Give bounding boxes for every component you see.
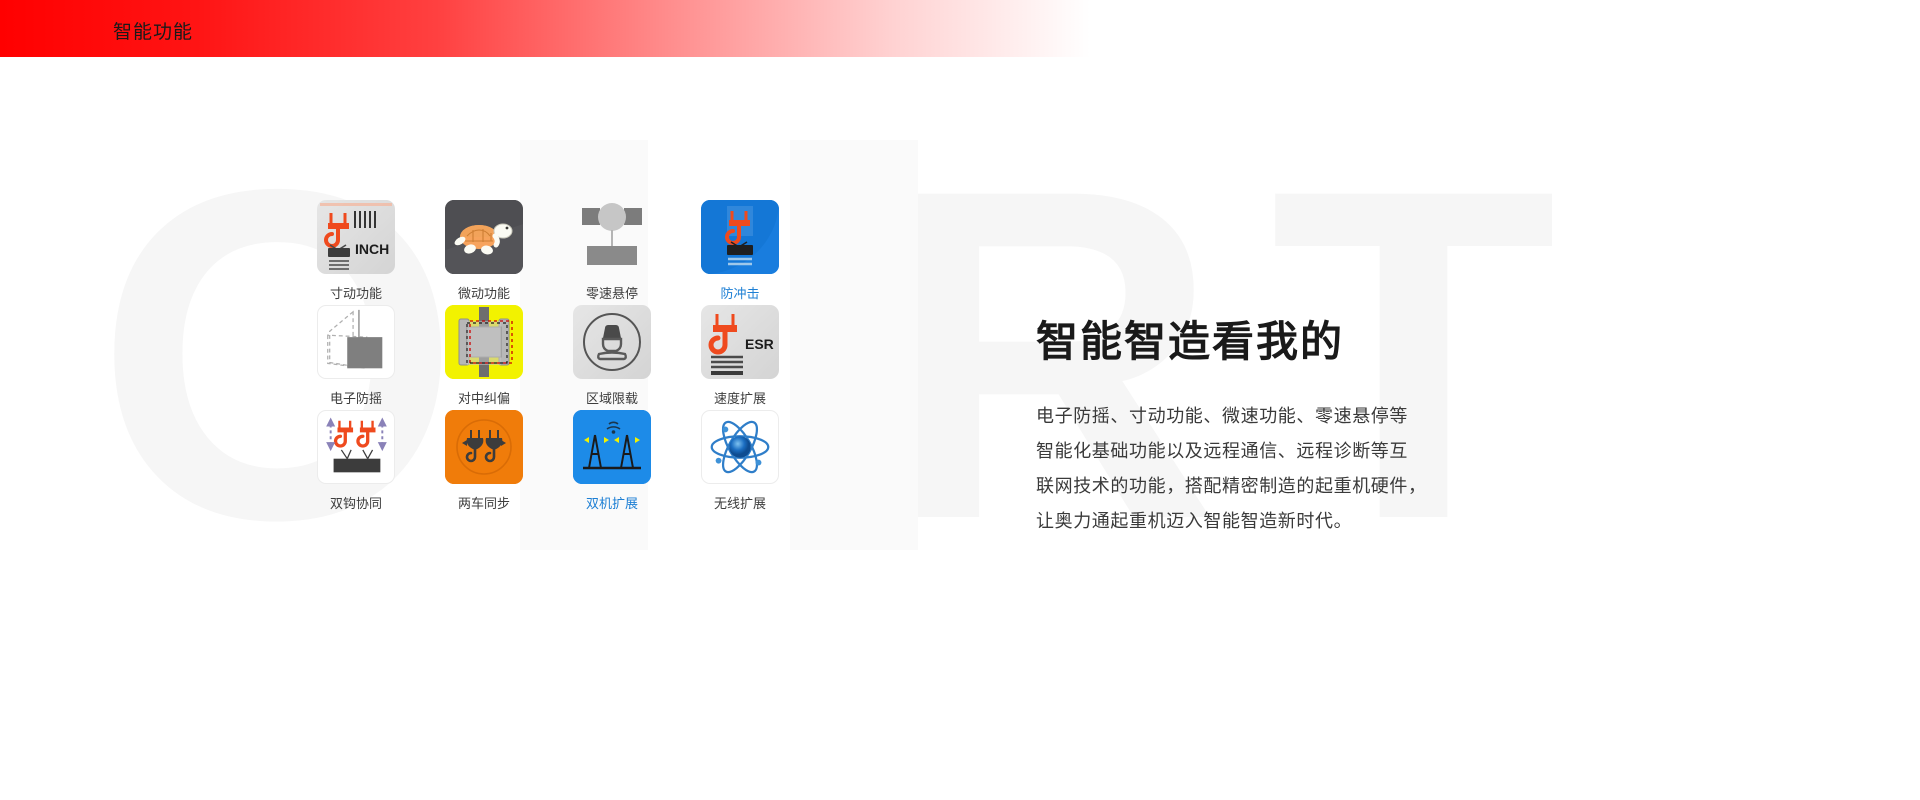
grid-item-label: 无线扩展 [714, 493, 766, 512]
esr-badge-text: ESR [745, 336, 774, 352]
content-heading: 智能智造看我的 [1036, 308, 1427, 369]
anti-shock-hook-icon [701, 200, 779, 274]
grid-item-label: 双钩协同 [330, 493, 382, 512]
grid-item-micro[interactable]: 微动功能 [420, 200, 548, 305]
zero-speed-hover-icon [573, 200, 651, 274]
atom-wireless-icon [701, 410, 779, 484]
dual-machine-wifi-icon [573, 410, 651, 484]
grid-item-label: 双机扩展 [586, 493, 638, 512]
inch-hook-icon: INCH [317, 200, 395, 274]
page-title: 智能功能 [113, 17, 193, 44]
content-block: 智能智造看我的 电子防摇、寸动功能、微速功能、零速悬停等 智能化基础功能以及远程… [1036, 308, 1427, 539]
paragraph-line: 让奥力通起重机迈入智能智造新时代。 [1036, 504, 1427, 539]
grid-item-label: 对中纠偏 [458, 388, 510, 407]
paragraph-line: 联网技术的功能，搭配精密制造的起重机硬件， [1036, 469, 1427, 504]
paragraph-line: 智能化基础功能以及远程通信、远程诊断等互 [1036, 434, 1427, 469]
dual-hook-sync-icon [317, 410, 395, 484]
grid-item-label: 零速悬停 [586, 283, 638, 302]
grid-item-anti-shock[interactable]: 防冲击 [676, 200, 804, 305]
grid-item-dual-machine[interactable]: 双机扩展 [548, 410, 676, 515]
zone-load-limit-icon [573, 305, 651, 379]
grid-item-label: 电子防摇 [330, 388, 382, 407]
grid-item-centering[interactable]: 对中纠偏 [420, 305, 548, 410]
grid-item-label: 速度扩展 [714, 388, 766, 407]
grid-item-speed-expand[interactable]: ESR 速度扩展 [676, 305, 804, 410]
background-band-right [790, 140, 918, 550]
feature-icon-grid: INCH 寸动功能 [292, 200, 804, 515]
content-paragraph: 电子防摇、寸动功能、微速功能、零速悬停等 智能化基础功能以及远程通信、远程诊断等… [1036, 399, 1427, 539]
inch-badge-text: INCH [355, 241, 389, 257]
grid-item-label: 寸动功能 [330, 283, 382, 302]
grid-item-label: 防冲击 [720, 283, 759, 302]
grid-item-wireless[interactable]: 无线扩展 [676, 410, 804, 515]
esr-hook-icon: ESR [701, 305, 779, 379]
tortoise-icon [445, 200, 523, 274]
grid-item-label: 区域限载 [586, 388, 638, 407]
paragraph-line: 电子防摇、寸动功能、微速功能、零速悬停等 [1036, 399, 1427, 434]
grid-item-label: 两车同步 [458, 493, 510, 512]
grid-item-label: 微动功能 [458, 283, 510, 302]
centering-correction-icon [445, 305, 523, 379]
grid-item-anti-sway[interactable]: 电子防摇 [292, 305, 420, 410]
grid-item-inch[interactable]: INCH 寸动功能 [292, 200, 420, 305]
grid-item-two-trolley[interactable]: 两车同步 [420, 410, 548, 515]
grid-item-zero-speed[interactable]: 零速悬停 [548, 200, 676, 305]
anti-sway-icon [317, 305, 395, 379]
grid-item-zone-limit[interactable]: 区域限载 [548, 305, 676, 410]
two-trolley-sync-icon [445, 410, 523, 484]
grid-item-dual-hook[interactable]: 双钩协同 [292, 410, 420, 515]
